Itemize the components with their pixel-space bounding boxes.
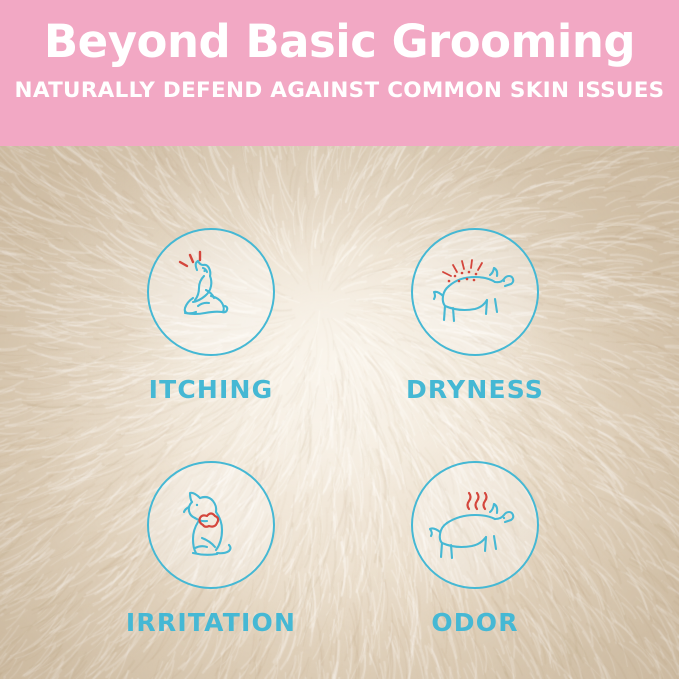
poster: Beyond Basic Grooming NATURALLY DEFEND A… (0, 0, 679, 679)
dog-irritated-patch-icon (162, 476, 260, 574)
benefit-label-itching: ITCHING (101, 375, 321, 404)
fur-texture (0, 146, 679, 679)
dog-odor-waves-icon (425, 475, 525, 575)
benefit-label-irritation: IRRITATION (101, 608, 321, 637)
page-subtitle: NATURALLY DEFEND AGAINST COMMON SKIN ISS… (15, 78, 665, 103)
benefit-label-dryness: DRYNESS (365, 375, 585, 404)
benefit-badge-itching (147, 228, 275, 356)
benefit-badge-dryness (411, 228, 539, 356)
dog-scratching-icon (163, 244, 259, 340)
benefit-badge-odor (411, 461, 539, 589)
benefit-label-odor: ODOR (365, 608, 585, 637)
header-band: Beyond Basic Grooming NATURALLY DEFEND A… (0, 0, 679, 146)
page-title: Beyond Basic Grooming (44, 18, 635, 65)
dog-flaky-skin-icon (425, 242, 525, 342)
benefit-badge-irritation (147, 461, 275, 589)
fur-background-image (0, 146, 679, 679)
